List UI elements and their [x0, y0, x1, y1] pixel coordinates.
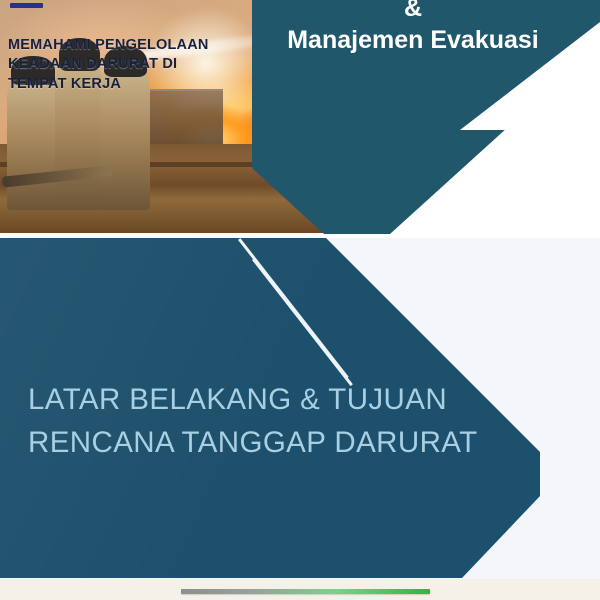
- progress-bar[interactable]: [181, 589, 430, 594]
- bottom-heading-line-2: RENCANA TANGGAP DARURAT: [28, 421, 498, 464]
- slide-top-right-title: & Manajemen Evakuasi: [248, 0, 578, 55]
- left-title-line-3: TEMPAT KERJA: [8, 75, 240, 94]
- left-title-line-1: MEMAHAMI PENGELOLAAN: [8, 36, 240, 55]
- firefighter-figure: [7, 77, 58, 209]
- slide-bottom[interactable]: LATAR BELAKANG & TUJUAN RENCANA TANGGAP …: [0, 238, 600, 579]
- bottom-heading-line-1: LATAR BELAKANG & TUJUAN: [28, 378, 498, 421]
- ampersand-text: &: [248, 0, 578, 24]
- accent-bar: [10, 3, 43, 8]
- slide-viewer: MEMAHAMI PENGELOLAAN KEADAAN DARURAT DI …: [0, 0, 600, 600]
- footer-bar: [0, 579, 600, 600]
- slide-top-left-title: MEMAHAMI PENGELOLAAN KEADAAN DARURAT DI …: [8, 36, 240, 94]
- left-title-line-2: KEADAAN DARURAT DI: [8, 55, 240, 74]
- slide-top[interactable]: MEMAHAMI PENGELOLAAN KEADAAN DARURAT DI …: [0, 0, 600, 238]
- manajemen-evakuasi-text: Manajemen Evakuasi: [248, 26, 578, 56]
- slide-bottom-heading: LATAR BELAKANG & TUJUAN RENCANA TANGGAP …: [28, 378, 498, 464]
